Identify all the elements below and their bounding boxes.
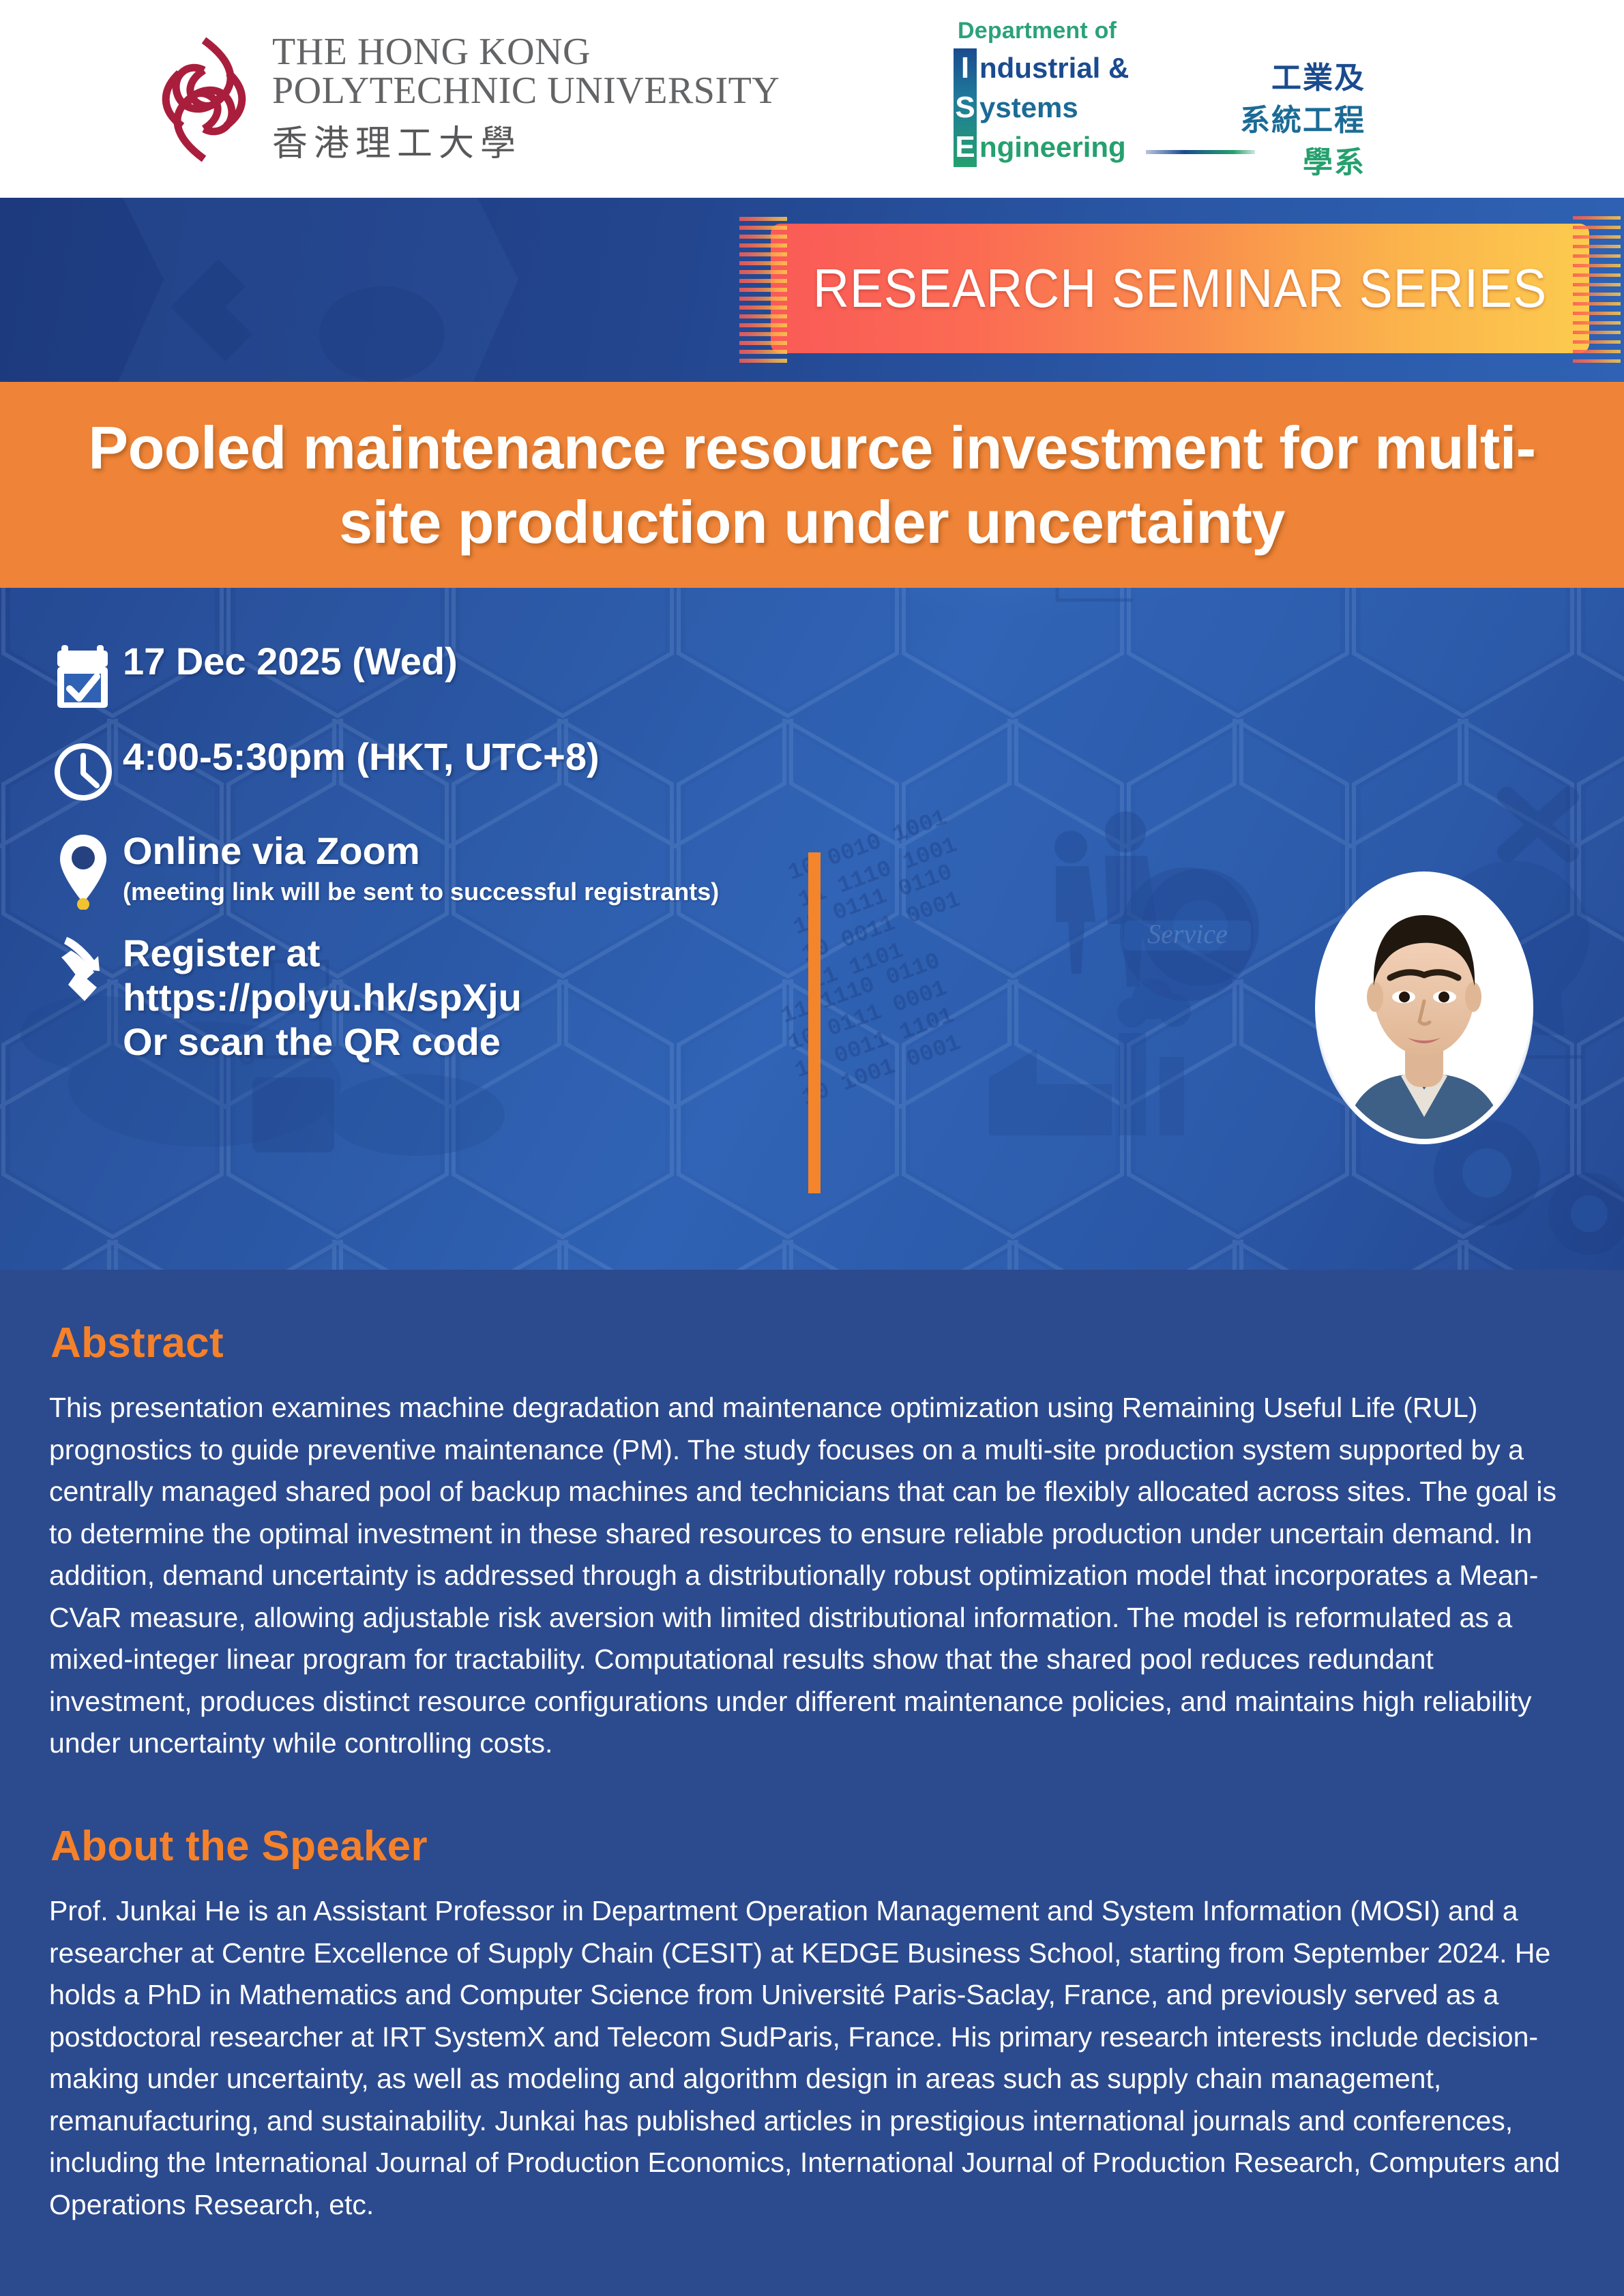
detail-row-venue: Online via Zoom (meeting link will be se… bbox=[49, 826, 820, 910]
ise-initial-e: E bbox=[954, 128, 977, 167]
banner-arrow-shapes bbox=[0, 198, 818, 382]
detail-row-date: 17 Dec 2025 (Wed) bbox=[49, 637, 820, 712]
seminar-title-band: Pooled maintenance resource investment f… bbox=[0, 382, 1624, 588]
polyu-name-line2: POLYTECHNIC UNIVERSITY bbox=[272, 72, 780, 110]
ise-chinese-line3: 學系 bbox=[1303, 142, 1365, 184]
about-speaker-body: Prof. Junkai He is an Assistant Professo… bbox=[49, 1890, 1576, 2226]
event-date: 17 Dec 2025 (Wed) bbox=[123, 640, 820, 684]
content-section: Abstract This presentation examines mach… bbox=[0, 1270, 1624, 2296]
event-venue-note: (meeting link will be sent to successful… bbox=[123, 876, 820, 908]
polyu-name-chinese: 香港理工大學 bbox=[272, 115, 780, 166]
event-details-list: 17 Dec 2025 (Wed) 4:00-5:30pm (HKT, UTC+… bbox=[49, 637, 820, 1069]
polyu-knot-mark bbox=[153, 35, 254, 164]
polyu-wordmark: THE HONG KONG POLYTECHNIC UNIVERSITY 香港理… bbox=[272, 33, 780, 166]
register-instructions[interactable]: Register at https://polyu.hk/spXju Or sc… bbox=[123, 931, 820, 1064]
hero-section: Service 10 0010 1001 11 1110 1001 10 011… bbox=[0, 198, 1624, 1270]
ise-word-systems: ystems bbox=[979, 88, 1129, 128]
ise-initial-i: I bbox=[954, 48, 977, 88]
ise-divider-rule bbox=[1146, 150, 1255, 154]
about-speaker-heading: About the Speaker bbox=[50, 1822, 428, 1870]
event-venue: Online via Zoom bbox=[123, 829, 820, 874]
ise-chinese-line1: 工業及 bbox=[1271, 57, 1365, 100]
polyu-logo: THE HONG KONG POLYTECHNIC UNIVERSITY 香港理… bbox=[153, 33, 780, 166]
university-logo-bar: THE HONG KONG POLYTECHNIC UNIVERSITY 香港理… bbox=[0, 0, 1624, 198]
ise-department-logo: Department of I S E ndustrial & ystems n… bbox=[954, 18, 1129, 167]
orange-vertical-divider bbox=[808, 852, 821, 1193]
calendar-icon bbox=[49, 637, 123, 712]
ise-word-industrial: ndustrial & bbox=[979, 48, 1129, 88]
ise-chinese-name: 工業及 系統工程 學系 bbox=[1240, 57, 1365, 184]
detail-row-register: Register at https://polyu.hk/spXju Or sc… bbox=[49, 929, 820, 1064]
pointing-hand-icon bbox=[49, 929, 123, 1008]
research-seminar-banner: RESEARCH SEMINAR SERIES bbox=[0, 198, 1624, 382]
detail-row-time: 4:00-5:30pm (HKT, UTC+8) bbox=[49, 732, 820, 803]
abstract-heading: Abstract bbox=[50, 1319, 224, 1367]
ise-initial-s: S bbox=[954, 88, 977, 128]
location-pin-icon bbox=[49, 826, 123, 910]
ise-word-engineering: ngineering bbox=[979, 128, 1129, 167]
polyu-name-line1: THE HONG KONG bbox=[272, 33, 780, 72]
clock-icon bbox=[49, 732, 123, 803]
research-seminar-series-label: RESEARCH SEMINAR SERIES bbox=[803, 224, 1556, 353]
event-time: 4:00-5:30pm (HKT, UTC+8) bbox=[123, 735, 820, 779]
abstract-body: This presentation examines machine degra… bbox=[49, 1387, 1576, 1765]
seminar-title: Pooled maintenance resource investment f… bbox=[82, 411, 1542, 559]
ise-initials-bar: I S E bbox=[954, 48, 977, 167]
ise-chinese-line2: 系統工程 bbox=[1240, 100, 1365, 142]
ise-department-of-label: Department of bbox=[958, 18, 1129, 44]
speaker-portrait-photo bbox=[1315, 871, 1533, 1144]
